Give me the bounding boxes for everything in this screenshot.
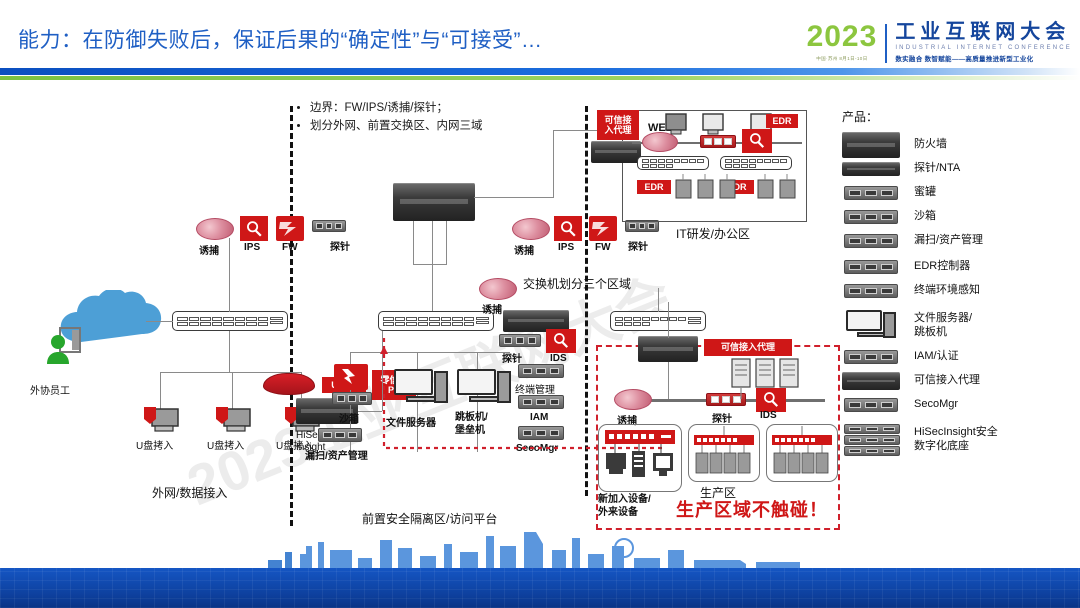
tower-icon (883, 312, 896, 338)
legend-item: 沙箱 (842, 207, 1078, 227)
label-outsourced-staff: 外协员工 (30, 382, 70, 397)
legend-item: 可信接入代理 (842, 371, 1078, 391)
rack-chassis-icon (842, 372, 904, 390)
label-fw-mid: FW (595, 242, 611, 253)
switch-office-right (720, 156, 792, 170)
firewall-flame-icon-mid (589, 216, 617, 241)
link-switch-inner-up (658, 288, 659, 312)
legend-label: 探针/NTA (914, 162, 960, 176)
legend-label: 蜜罐 (914, 186, 936, 200)
link-switch-bus (229, 331, 230, 373)
legend-label: IAM/认证 (914, 350, 959, 364)
link-hisec-switch (358, 411, 382, 412)
zone-separator-left (290, 106, 293, 526)
link-core-down-3 (446, 221, 447, 264)
firewall-chassis-icon (842, 136, 904, 154)
legend-label: 可信接入代理 (914, 374, 980, 388)
label-fw-left: FW (282, 242, 298, 253)
legend-title: 产品： (842, 108, 1078, 125)
city-skyline-icon (0, 532, 1080, 572)
label-probe-production: 探针 (712, 410, 732, 425)
honeypot-icon-production (614, 389, 652, 410)
link-core-down-1 (413, 221, 414, 264)
label-ids-production: IDS (760, 410, 777, 421)
legend-item: IAM/认证 (842, 347, 1078, 367)
legend-label: HiSecInsight安全 数字化底座 (914, 426, 998, 454)
honeypot-icon-office (642, 132, 678, 152)
link-core-bus (413, 264, 447, 265)
footer-ground (0, 568, 1080, 608)
zone-label-it-office: IT研发/办公区 (676, 225, 750, 242)
legend-label: 漏扫/资产管理 (914, 234, 983, 248)
server-appliance-icon (842, 396, 904, 414)
trusted-agent-chassis-icon-bottom (638, 336, 698, 362)
zone-label-external: 外网/数据接入 (152, 484, 227, 501)
edr-magnifier-icon-office (742, 129, 772, 153)
legend-item: 漏扫/资产管理 (842, 231, 1078, 251)
link-core-right-down (553, 130, 554, 198)
honeypot-cluster-icon (263, 373, 315, 395)
trusted-agent-chassis-icon-top (591, 141, 641, 163)
production-subnet-right-content (768, 426, 836, 480)
legend-item: 防火墙 (842, 135, 1078, 155)
logo-separator-icon (885, 24, 887, 63)
divider-green-bar (0, 76, 1080, 80)
label-probe-mid: 探针 (628, 238, 648, 253)
probe-appliance-icon-left (312, 220, 346, 232)
trusted-access-agent-tag-top: 可信接 入代理 (597, 110, 639, 140)
probe-appliance-icon-office (700, 135, 736, 148)
label-usb-copy-2: U盘拷入 (207, 437, 244, 452)
label-honeypot-mid: 诱捕 (514, 242, 534, 257)
firewall-flame-icon-left (276, 216, 304, 241)
honeypot-icon-left (196, 218, 234, 240)
legend-label: 防火墙 (914, 138, 947, 152)
bullet-item: 边界：FW/IPS/诱捕/探针； (310, 100, 483, 118)
monitor-base-icon (857, 332, 885, 336)
legend-label: 终端环境感知 (914, 284, 980, 298)
probe-appliance-icon (842, 160, 904, 178)
workstation-icon (842, 310, 904, 342)
monitor-icon (846, 310, 882, 331)
rack-stack-icon (842, 424, 904, 456)
link-cloud-switch (146, 321, 173, 322)
logo-title-cn: 工业互联网大会 (895, 22, 1072, 43)
server-appliance-icon (842, 208, 904, 226)
logo-date: 中国·苏州 8月1日-10日 (807, 56, 878, 62)
office-endpoints-group (636, 174, 806, 202)
legend-item: 终端环境感知 (842, 281, 1078, 301)
slide-header: 能力：在防御失败后，保证后果的“确定性”与“可接受”… 2023 中国·苏州 8… (0, 0, 1080, 92)
sandbox-appliance-icon (332, 392, 372, 405)
link-core-down-2 (432, 221, 433, 316)
legend-item: SecoMgr (842, 395, 1078, 415)
server-appliance-icon (842, 258, 904, 276)
ips-magnifier-icon-left (240, 216, 268, 241)
outsourced-staff-icon (42, 324, 86, 366)
divider-blue-bar (0, 68, 1080, 75)
switch-external (172, 311, 288, 331)
vuln-scan-appliance-icon (318, 428, 362, 442)
label-sandbox: 沙箱 (339, 410, 359, 425)
legend-label: 沙箱 (914, 210, 936, 224)
bullet-list: 边界：FW/IPS/诱捕/探针； 划分外网、前置交换区、内网三域 (296, 100, 483, 136)
switch-office-left (637, 156, 709, 170)
ips-magnifier-icon-mid (554, 216, 582, 241)
edr-tag-top-right: EDR (766, 114, 798, 128)
legend-label: 文件服务器/ 跳板机 (914, 312, 972, 340)
slide: 能力：在防御失败后，保证后果的“确定性”与“可接受”… 2023 中国·苏州 8… (0, 0, 1080, 608)
legend-item: 蜜罐 (842, 183, 1078, 203)
core-firewall-chassis-icon (393, 183, 475, 221)
trusted-access-agent-tag-bottom: 可信接入代理 (704, 339, 792, 356)
endpoint-pc-icon (142, 405, 182, 435)
label-new-devices: 新加入设备/ 外来设备 (598, 494, 651, 519)
legend-label: SecoMgr (914, 398, 958, 412)
zone-label-dmz: 前置安全隔离区/访问平台 (362, 510, 497, 527)
link-switch-up (229, 238, 230, 312)
link-agent-down (668, 362, 669, 400)
server-appliance-icon (842, 348, 904, 366)
server-appliance-icon (842, 232, 904, 250)
legend-item: HiSecInsight安全 数字化底座 (842, 423, 1078, 457)
logo-title-en: INDUSTRIAL INTERNET CONFERENCE (895, 45, 1072, 51)
label-probe-left: 探针 (330, 238, 350, 253)
honeypot-icon-mid2 (479, 278, 517, 300)
sandbox-icon (334, 364, 368, 390)
production-servers-icon (730, 357, 800, 401)
label-ips-left: IPS (244, 242, 260, 253)
server-appliance-icon (842, 282, 904, 300)
legend-label: EDR控制器 (914, 260, 970, 274)
label-ips-mid: IPS (558, 242, 574, 253)
endpoint-pc-icon (214, 405, 254, 435)
label-honeypot-left: 诱捕 (199, 242, 219, 257)
product-legend: 产品： 防火墙 探针/NTA 蜜罐 沙箱 (842, 108, 1078, 461)
bullet-item: 划分外网、前置交换区、内网三域 (310, 118, 483, 136)
production-warning-text: 生产区域不触碰！ (676, 496, 828, 522)
new-devices-content (601, 427, 679, 489)
header-divider (0, 68, 1080, 80)
logo-text-block: 工业互联网大会 INDUSTRIAL INTERNET CONFERENCE 数… (895, 22, 1072, 63)
logo-year-block: 2023 中国·苏州 8月1日-10日 (807, 22, 886, 62)
label-vuln-scan: 漏扫/资产管理 (305, 447, 368, 462)
legend-item: EDR控制器 (842, 257, 1078, 277)
link-core-to-right (474, 197, 554, 198)
legend-item: 探针/NTA (842, 159, 1078, 179)
production-subnet-left-content (690, 426, 758, 480)
note-switch-zones: 交换机划分三个区域 (523, 275, 631, 292)
honeypot-icon-mid (512, 218, 550, 240)
server-appliance-icon (842, 184, 904, 202)
conference-logo: 2023 中国·苏州 8月1日-10日 工业互联网大会 INDUSTRIAL I… (807, 22, 1072, 63)
slide-footer (0, 532, 1080, 608)
legend-item: 文件服务器/ 跳板机 (842, 309, 1078, 343)
link-agent-up (668, 302, 669, 338)
page-title: 能力：在防御失败后，保证后果的“确定性”与“可接受”… (18, 24, 542, 54)
label-usb-copy-1: U盘拷入 (136, 437, 173, 452)
logo-year: 2023 (807, 22, 878, 52)
logo-subtitle: 数实融合 数智赋能——高质量推进新型工业化 (895, 53, 1072, 63)
label-honeypot-mid2: 诱捕 (482, 301, 502, 316)
